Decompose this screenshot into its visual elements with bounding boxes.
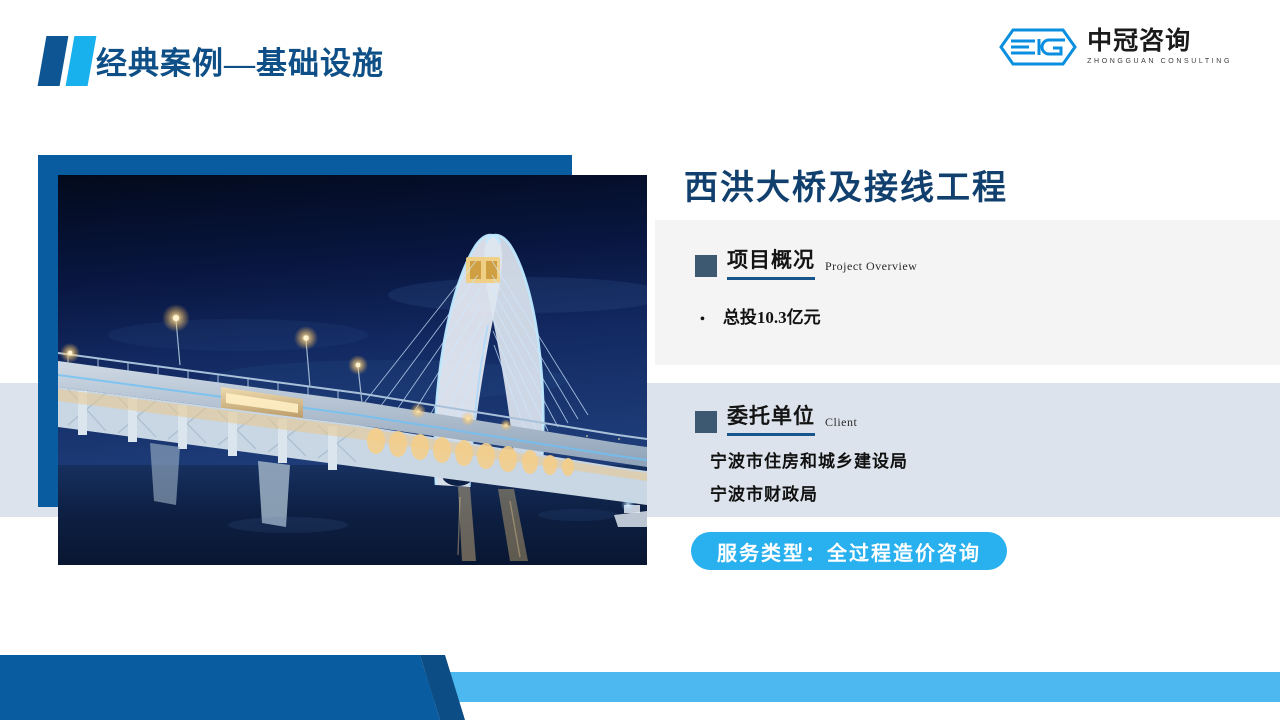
client-entry: 宁波市住房和城乡建设局 [710, 447, 908, 472]
parallelogram-dark [38, 36, 69, 86]
client-heading-en: Client [825, 415, 857, 430]
logo-name-cn: 中冠咨询 [1087, 29, 1232, 54]
project-title: 西洪大桥及接线工程 [684, 160, 1008, 209]
square-marker-icon [695, 255, 717, 277]
bullet-dot-icon: • [700, 313, 705, 327]
client-heading-cn: 委托单位 [727, 400, 815, 436]
overview-heading-en: Project Overview [825, 259, 917, 274]
overview-heading-cn: 项目概况 [727, 244, 815, 280]
footer-band-blue [0, 655, 440, 720]
overview-card [655, 220, 1280, 365]
client-entry: 宁波市财政局 [710, 480, 818, 505]
service-type-badge: 服务类型：全过程造价咨询 [691, 532, 1007, 570]
parallelogram-cyan [66, 36, 97, 86]
overview-section-heading: 项目概况 Project Overview [695, 244, 917, 280]
double-parallelogram-icon [40, 36, 96, 86]
client-section-heading: 委托单位 Client [695, 400, 857, 436]
page-header: 经典案例—基础设施 中冠咨询 ZHONGGUAN CONSULTING [0, 0, 1280, 120]
overview-bullet-item: • 总投10.3亿元 [700, 303, 821, 328]
square-marker-icon [695, 411, 717, 433]
project-photo [58, 175, 647, 565]
page-title: 经典案例—基础设施 [96, 38, 384, 83]
zhongguan-hexagon-zg-icon [999, 27, 1077, 67]
footer-decoration [0, 640, 1280, 720]
logo-name-en: ZHONGGUAN CONSULTING [1087, 58, 1232, 65]
footer-band-cyan [420, 672, 1280, 702]
overview-bullet-text: 总投10.3亿元 [723, 303, 821, 328]
company-logo: 中冠咨询 ZHONGGUAN CONSULTING [999, 27, 1232, 67]
logo-wordmark: 中冠咨询 ZHONGGUAN CONSULTING [1087, 29, 1232, 65]
